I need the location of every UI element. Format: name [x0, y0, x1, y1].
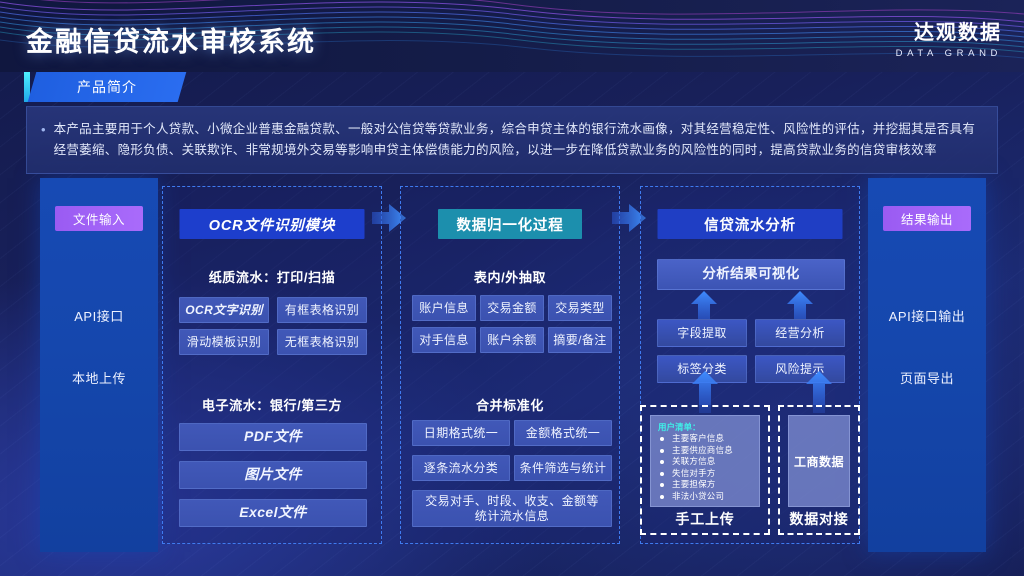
result-output-page-export: 页面导出: [868, 368, 986, 387]
file-input-chip: 文件输入: [55, 206, 143, 231]
norm-tile-summary-remark[interactable]: 摘要/备注: [548, 327, 612, 353]
file-input-local-upload: 本地上传: [40, 368, 158, 387]
user-list-item: 非法小贷公司: [658, 491, 733, 503]
business-data-label: 工商数据: [794, 453, 844, 470]
user-list-item: 主要客户信息: [658, 433, 733, 445]
norm-tile-counterparty-info[interactable]: 对手信息: [412, 327, 476, 353]
ocr-digital-section-title: 电子流水：银行/第三方: [163, 395, 381, 414]
ocr-paper-section-title: 纸质流水：打印/扫描: [163, 267, 381, 286]
norm-tile-statistics-summary[interactable]: 交易对手、时段、收支、金额等统计流水信息: [412, 490, 612, 527]
normalization-column-header: 数据归一化过程: [438, 209, 582, 239]
brand-logo: 达观数据 DATA GRAND: [896, 16, 1002, 59]
intro-tab: 产品简介: [32, 72, 182, 102]
page-title: 金融信贷流水审核系统: [26, 20, 316, 59]
norm-merge-section-title: 合并标准化: [401, 395, 619, 414]
result-output-chip: 结果输出: [883, 206, 971, 231]
norm-tile-itemized-classification[interactable]: 逐条流水分类: [412, 455, 510, 481]
norm-tile-date-format-unify[interactable]: 日期格式统一: [412, 420, 510, 446]
file-input-api: API接口: [40, 306, 158, 325]
data-docking-label: 数据对接: [780, 509, 858, 529]
ocr-tile-image-file[interactable]: 图片文件: [179, 461, 367, 489]
ocr-module-column: OCR文件识别模块 纸质流水：打印/扫描 OCR文字识别 有框表格识别 滑动模板…: [162, 186, 382, 544]
ocr-tile-text-recognition[interactable]: OCR文字识别: [179, 297, 269, 323]
manual-upload-label: 手工上传: [642, 509, 768, 529]
intro-text: 本产品主要用于个人贷款、小微企业普惠金融贷款、一般对公信贷等贷款业务，综合申贷主…: [54, 119, 979, 161]
business-data-card: 工商数据: [788, 415, 850, 507]
normalization-column: 数据归一化过程 表内/外抽取 账户信息 交易金额 交易类型 对手信息 账户余额 …: [400, 186, 620, 544]
norm-tile-filter-and-stats[interactable]: 条件筛选与统计: [514, 455, 612, 481]
data-docking-group: 工商数据 数据对接: [778, 405, 860, 535]
flow-diagram: 文件输入 API接口 本地上传 结果输出 API接口输出 页面导出 OCR文件识…: [0, 178, 1024, 560]
intro-body: • 本产品主要用于个人贷款、小微企业普惠金融贷款、一般对公信贷等贷款业务，综合申…: [26, 106, 998, 174]
user-list-item: 失信对手方: [658, 468, 733, 480]
result-output-api: API接口输出: [868, 306, 986, 325]
norm-tile-amount-format-unify[interactable]: 金额格式统一: [514, 420, 612, 446]
header-bar: 金融信贷流水审核系统 达观数据 DATA GRAND: [0, 0, 1024, 72]
logo-cn-text: 达观数据: [896, 16, 1002, 45]
up-arrow-icon-data: [806, 371, 832, 405]
analysis-tile-business-analysis[interactable]: 经营分析: [755, 319, 845, 347]
norm-tile-account-info[interactable]: 账户信息: [412, 295, 476, 321]
intro-section: 产品简介 • 本产品主要用于个人贷款、小微企业普惠金融贷款、一般对公信贷等贷款业…: [26, 72, 998, 174]
ocr-tile-bordered-table[interactable]: 有框表格识别: [277, 297, 367, 323]
up-arrow-icon-manual: [692, 371, 718, 405]
user-list-item: 主要担保方: [658, 479, 733, 491]
manual-upload-group: 用户清单： 主要客户信息 主要供应商信息 关联方信息 失信对手方 主要担保方 非…: [640, 405, 770, 535]
user-list-item: 关联方信息: [658, 456, 733, 468]
analysis-tile-field-extraction[interactable]: 字段提取: [657, 319, 747, 347]
norm-tile-transaction-type[interactable]: 交易类型: [548, 295, 612, 321]
user-list-title: 用户清单：: [658, 421, 701, 433]
ocr-tile-sliding-template[interactable]: 滑动模板识别: [179, 329, 269, 355]
intro-bullet-icon: •: [41, 119, 46, 161]
norm-tile-account-balance[interactable]: 账户余额: [480, 327, 544, 353]
analysis-column-header: 信贷流水分析: [658, 209, 843, 239]
user-list-card: 用户清单： 主要客户信息 主要供应商信息 关联方信息 失信对手方 主要担保方 非…: [650, 415, 760, 507]
slide-canvas: 金融信贷流水审核系统 达观数据 DATA GRAND 产品简介 • 本产品主要用…: [0, 0, 1024, 576]
user-list: 主要客户信息 主要供应商信息 关联方信息 失信对手方 主要担保方 非法小贷公司: [658, 433, 733, 503]
norm-extract-section-title: 表内/外抽取: [401, 267, 619, 286]
result-output-panel: 结果输出 API接口输出 页面导出: [868, 178, 986, 552]
intro-tab-label: 产品简介: [32, 72, 182, 102]
ocr-tile-excel-file[interactable]: Excel文件: [179, 499, 367, 527]
norm-tile-transaction-amount[interactable]: 交易金额: [480, 295, 544, 321]
ocr-tile-borderless-table[interactable]: 无框表格识别: [277, 329, 367, 355]
file-input-panel: 文件输入 API接口 本地上传: [40, 178, 158, 552]
analysis-tile-visualization[interactable]: 分析结果可视化: [657, 259, 845, 290]
user-list-item: 主要供应商信息: [658, 445, 733, 457]
ocr-tile-pdf-file[interactable]: PDF文件: [179, 423, 367, 451]
logo-en-text: DATA GRAND: [896, 48, 1002, 59]
ocr-column-header: OCR文件识别模块: [180, 209, 365, 239]
